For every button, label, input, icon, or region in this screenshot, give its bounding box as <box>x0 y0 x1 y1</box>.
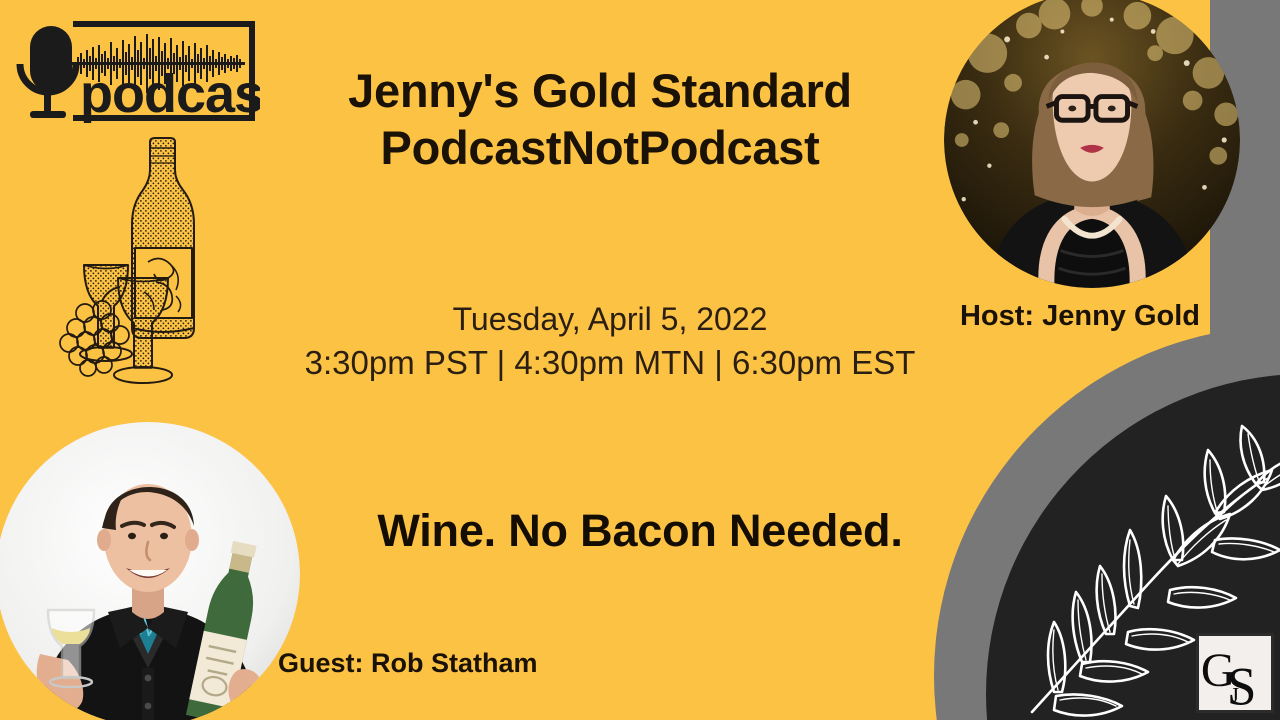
wine-illustration-icon <box>52 132 267 394</box>
host-avatar <box>944 0 1240 288</box>
guest-portrait-image <box>0 422 300 720</box>
gs-monogram-icon: G S J <box>1199 636 1271 710</box>
host-portrait-image <box>944 0 1240 288</box>
host-caption: Host: Jenny Gold <box>930 300 1230 333</box>
podcast-promo-graphic: podcast <box>0 0 1280 720</box>
schedule-times: 3:30pm PST | 4:30pm MTN | 6:30pm EST <box>260 341 960 386</box>
gs-monogram-logo: G S J <box>1196 633 1274 713</box>
title-line-2: PodcastNotPodcast <box>290 119 910 176</box>
podcast-wordmark: podcast <box>80 64 260 124</box>
guest-caption: Guest: Rob Statham <box>278 648 538 679</box>
page-title: Jenny's Gold Standard PodcastNotPodcast <box>290 62 910 177</box>
guest-avatar <box>0 422 300 720</box>
schedule-date: Tuesday, April 5, 2022 <box>453 301 768 337</box>
title-line-1: Jenny's Gold Standard <box>348 64 852 117</box>
podcast-logo-icon: podcast <box>10 12 260 130</box>
gs-letter-j: J <box>1230 683 1239 708</box>
schedule-block: Tuesday, April 5, 2022 3:30pm PST | 4:30… <box>260 298 960 386</box>
episode-headline: Wine. No Bacon Needed. <box>300 505 980 557</box>
